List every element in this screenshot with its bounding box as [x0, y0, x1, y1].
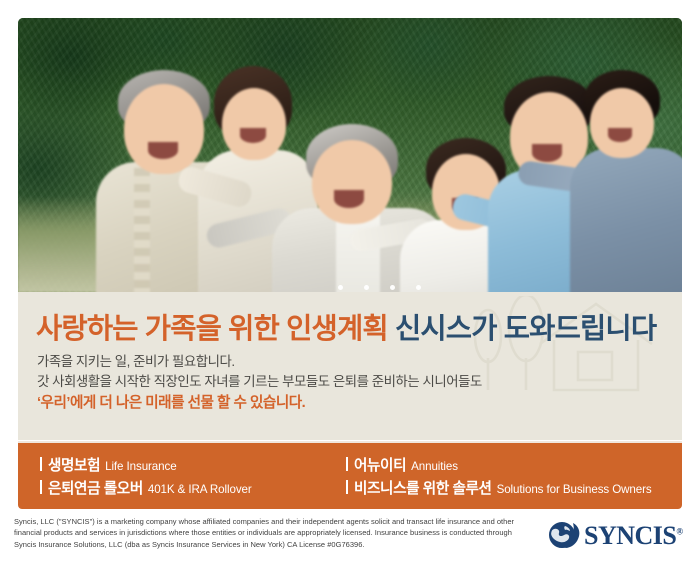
product-label-en: Life Insurance — [105, 460, 176, 473]
dot-decoration — [18, 280, 682, 290]
product-label-en: Annuities — [411, 460, 458, 473]
logo-text: SYNCIS — [584, 521, 676, 550]
tick-marker-icon — [40, 480, 42, 494]
product-item-401k-ira-rollover[interactable]: 은퇴연금 롤오버 401K & IRA Rollover — [40, 477, 252, 500]
person-son — [570, 70, 682, 292]
footer: Syncis, LLC ("SYNCIS") is a marketing co… — [0, 509, 700, 563]
product-list-bar: 생명보험 Life Insurance 은퇴연금 롤오버 401K & IRA … — [18, 441, 682, 509]
product-label-ko: 은퇴연금 롤오버 — [48, 477, 143, 498]
product-column-right: 어뉴이티 Annuities 비즈니스를 위한 솔루션 Solutions fo… — [346, 454, 652, 500]
product-label-ko: 생명보험 — [48, 454, 100, 475]
body-line-3-highlight: ‘우리’에게 더 나은 미래를 선물 할 수 있습니다. — [37, 391, 305, 412]
body-line-2: 갓 사회생활을 시작한 직장인도 자녀를 기르는 부모들도 은퇴를 준비하는 시… — [37, 370, 482, 390]
headline-orange: 사랑하는 가족을 위한 인생계획 — [36, 313, 388, 345]
tick-marker-icon — [346, 480, 348, 494]
advertisement-card: 사랑하는 가족을 위한 인생계획 신시스가 도와드립니다 가족을 지키는 일, … — [0, 0, 700, 563]
tick-marker-icon — [40, 457, 42, 471]
legal-disclaimer: Syncis, LLC ("SYNCIS") is a marketing co… — [14, 516, 534, 550]
body-line-1: 가족을 지키는 일, 준비가 필요합니다. — [37, 350, 235, 370]
family-photo — [18, 18, 682, 292]
syncis-logo[interactable]: SYNCIS® — [548, 521, 683, 551]
product-item-life-insurance[interactable]: 생명보험 Life Insurance — [40, 454, 252, 477]
tick-marker-icon — [346, 457, 348, 471]
product-column-left: 생명보험 Life Insurance 은퇴연금 롤오버 401K & IRA … — [40, 454, 252, 500]
headline-navy: 신시스가 도와드립니다 — [395, 313, 656, 345]
product-label-ko: 비즈니스를 위한 솔루션 — [354, 477, 492, 498]
product-label-ko: 어뉴이티 — [354, 454, 406, 475]
message-panel: 사랑하는 가족을 위한 인생계획 신시스가 도와드립니다 가족을 지키는 일, … — [18, 292, 682, 440]
product-item-business-solutions[interactable]: 비즈니스를 위한 솔루션 Solutions for Business Owne… — [346, 477, 652, 500]
product-item-annuities[interactable]: 어뉴이티 Annuities — [346, 454, 652, 477]
globe-swoosh-icon — [548, 521, 582, 551]
headline: 사랑하는 가족을 위한 인생계획 신시스가 도와드립니다 — [36, 306, 656, 347]
logo-wordmark: SYNCIS® — [584, 521, 683, 551]
product-label-en: 401K & IRA Rollover — [148, 483, 252, 496]
registered-trademark-symbol: ® — [676, 526, 682, 536]
product-label-en: Solutions for Business Owners — [497, 483, 652, 496]
